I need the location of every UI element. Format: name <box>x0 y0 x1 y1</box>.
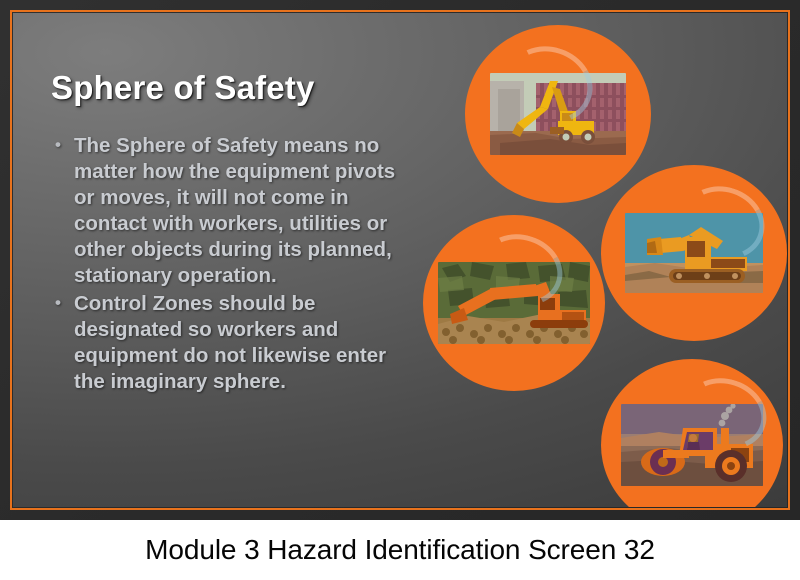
forest-excavator-artwork <box>438 262 590 344</box>
bullet-list: • The Sphere of Safety means no matter h… <box>49 133 399 397</box>
caption-bar: Module 3 Hazard Identification Screen 32 <box>0 520 800 580</box>
photo-bubble-forest-excavator <box>423 215 605 391</box>
slide-canvas: Sphere of Safety • The Sphere of Safety … <box>13 13 787 507</box>
slide-viewer: Sphere of Safety • The Sphere of Safety … <box>0 0 800 580</box>
photo-bubble-demolition-backhoe <box>465 25 651 203</box>
bullet-marker-icon: • <box>55 291 61 316</box>
page-title: Sphere of Safety <box>51 69 315 107</box>
list-item: • The Sphere of Safety means no matter h… <box>49 133 399 289</box>
photo-bubble-tracked-excavator <box>601 165 787 341</box>
road-roller-photo <box>621 404 763 486</box>
bullet-marker-icon: • <box>55 133 61 158</box>
demolition-backhoe-photo <box>490 73 626 155</box>
bullet-text: Control Zones should be designated so wo… <box>74 292 386 393</box>
tracked-excavator-photo <box>625 213 763 293</box>
road-roller-artwork <box>621 404 763 486</box>
caption-text: Module 3 Hazard Identification Screen 32 <box>145 534 655 566</box>
slide-frame: Sphere of Safety • The Sphere of Safety … <box>0 0 800 520</box>
forest-excavator-photo <box>438 262 590 344</box>
demolition-backhoe-artwork <box>490 73 626 155</box>
bullet-text: The Sphere of Safety means no matter how… <box>74 134 395 287</box>
tracked-excavator-artwork <box>625 213 763 293</box>
photo-bubble-road-roller <box>601 359 783 507</box>
list-item: • Control Zones should be designated so … <box>49 291 399 395</box>
